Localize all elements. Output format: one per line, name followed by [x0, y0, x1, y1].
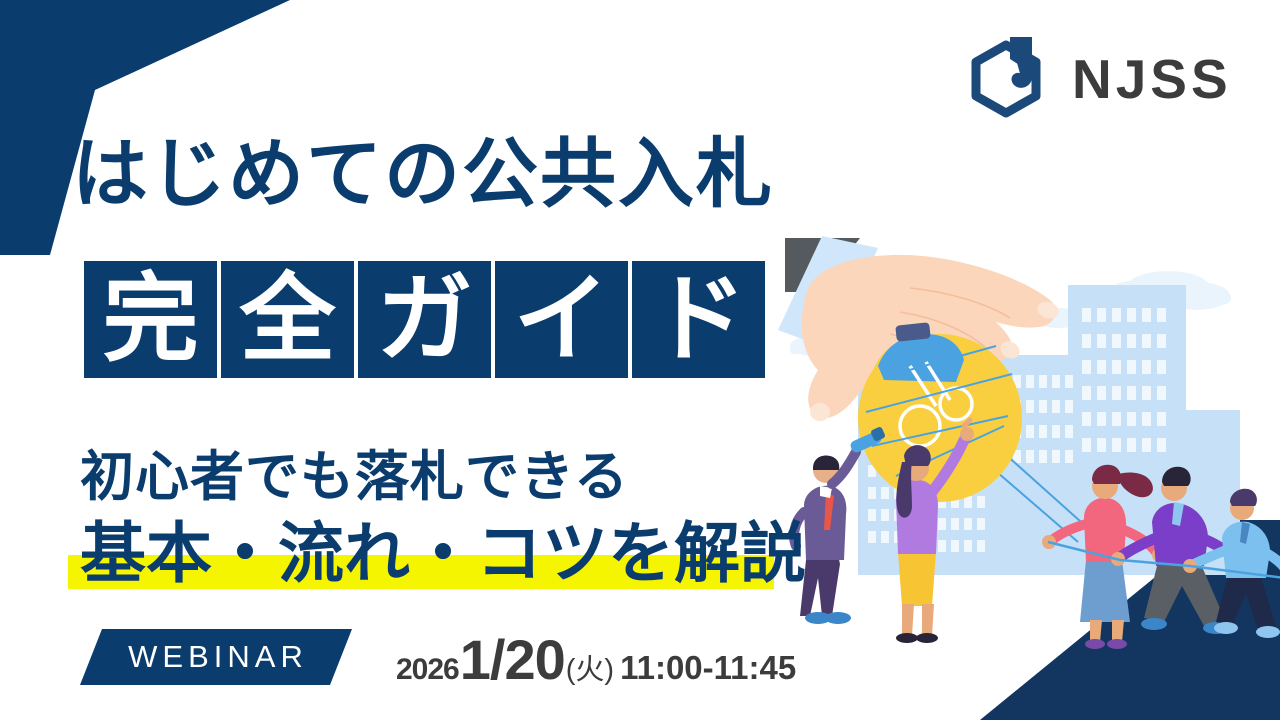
illustration-scene [760, 230, 1280, 650]
webinar-year: 2026 [396, 653, 459, 687]
webinar-time: 11:00-11:45 [620, 649, 796, 687]
boxed-char: 全 [221, 261, 354, 378]
njss-logo: NJSS [970, 33, 1232, 125]
subtitle-line-2: 基本・流れ・コツを解説 [80, 500, 806, 596]
boxed-char: ガ [358, 261, 491, 378]
subtitle-line-1: 初心者でも落札できる [80, 432, 629, 511]
page-title: はじめての公共入札 [72, 135, 774, 215]
boxed-char: イ [495, 261, 628, 378]
webinar-day-of-week: (火) [566, 646, 614, 688]
webinar-month-day: 1/20 [460, 627, 565, 692]
njss-hexagon-hook-logo-icon [970, 33, 1054, 125]
subtitle-line-2-wrap: 基本・流れ・コツを解説 [68, 500, 794, 596]
webinar-badge: WEBINAR [80, 629, 352, 685]
webinar-datetime: 2026 1/20 (火) 11:00-11:45 [396, 627, 796, 692]
webinar-banner: NJSS はじめての公共入札 完 全 ガ イ ド 初心者でも落札できる 基本・流… [0, 0, 1280, 720]
boxed-title: 完 全 ガ イ ド [84, 261, 765, 378]
boxed-char: 完 [84, 261, 217, 378]
logo-wordmark: NJSS [1072, 52, 1232, 107]
webinar-badge-label: WEBINAR [124, 639, 308, 675]
boxed-char: ド [632, 261, 765, 378]
